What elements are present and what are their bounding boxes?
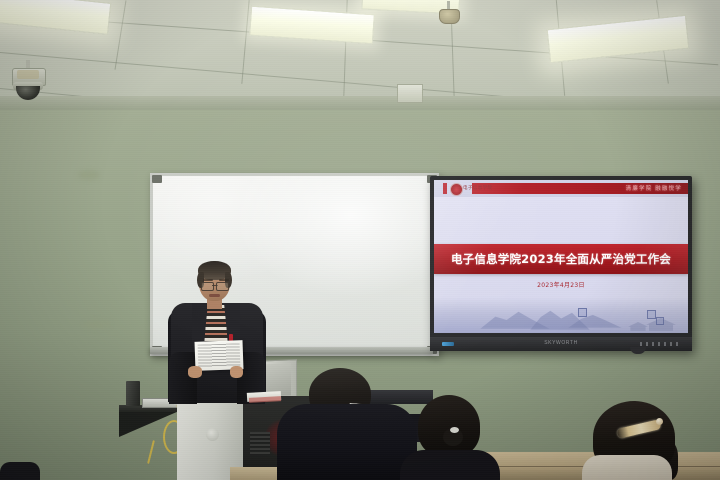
glasses-icon bbox=[201, 282, 229, 289]
shelf-device bbox=[126, 381, 140, 406]
presenter-arm-left bbox=[169, 352, 197, 404]
university-emblem-icon bbox=[450, 183, 463, 196]
wall-stain bbox=[84, 320, 110, 329]
slide-landscape-illustration bbox=[434, 297, 688, 333]
slide-logo-accent-bar bbox=[443, 183, 447, 194]
presenter-hand-right bbox=[230, 366, 243, 378]
presentation-display[interactable]: 电子信息学院 清廉学院 融融悦学 电子信息学院2023年全面从严治党工作会 20… bbox=[430, 176, 692, 351]
display-brand-label: SKYWORTH bbox=[544, 340, 578, 346]
ceiling-speaker-icon bbox=[397, 84, 423, 103]
slide-title-band: 电子信息学院2023年全面从严治党工作会 bbox=[434, 244, 688, 274]
display-bezel: SKYWORTH bbox=[430, 337, 692, 351]
hair-tie-icon bbox=[450, 427, 459, 433]
audience-woman-clip-top bbox=[582, 455, 672, 480]
podium-knob[interactable] bbox=[206, 428, 219, 441]
audience-woman-bun-hair bbox=[418, 395, 480, 457]
hair-clip-pearl-icon bbox=[656, 418, 663, 425]
meeting-room-photo: 电子信息学院 清廉学院 融融悦学 电子信息学院2023年全面从严治党工作会 20… bbox=[0, 0, 720, 480]
display-control-keys[interactable] bbox=[640, 342, 682, 346]
display-screen[interactable]: 电子信息学院 清廉学院 融融悦学 电子信息学院2023年全面从严治党工作会 20… bbox=[434, 180, 688, 333]
camera-label bbox=[17, 70, 39, 79]
podium-vent bbox=[250, 432, 270, 456]
slide-date: 2023年4月23日 bbox=[434, 280, 688, 289]
ceiling-sprinkler-icon bbox=[439, 9, 460, 24]
slide: 电子信息学院 清廉学院 融融悦学 电子信息学院2023年全面从严治党工作会 20… bbox=[434, 180, 688, 333]
presenter-mouth bbox=[209, 294, 220, 297]
audience-woman-bun-body bbox=[400, 450, 500, 480]
power-led-icon bbox=[442, 342, 454, 346]
wall-stain bbox=[78, 170, 100, 180]
slide-title: 电子信息学院2023年全面从严治党工作会 bbox=[451, 251, 671, 267]
presenter-brow-left bbox=[203, 279, 213, 281]
audience-partial-foreground bbox=[0, 462, 40, 480]
presenter-brow-right bbox=[219, 279, 229, 281]
slide-banner-overlay-text: 清廉学院 融融悦学 bbox=[626, 184, 682, 192]
presenter-hand-left bbox=[188, 366, 202, 378]
slide-org-logo-text: 电子信息学院 bbox=[463, 185, 492, 191]
audience-man-suit bbox=[277, 404, 417, 480]
